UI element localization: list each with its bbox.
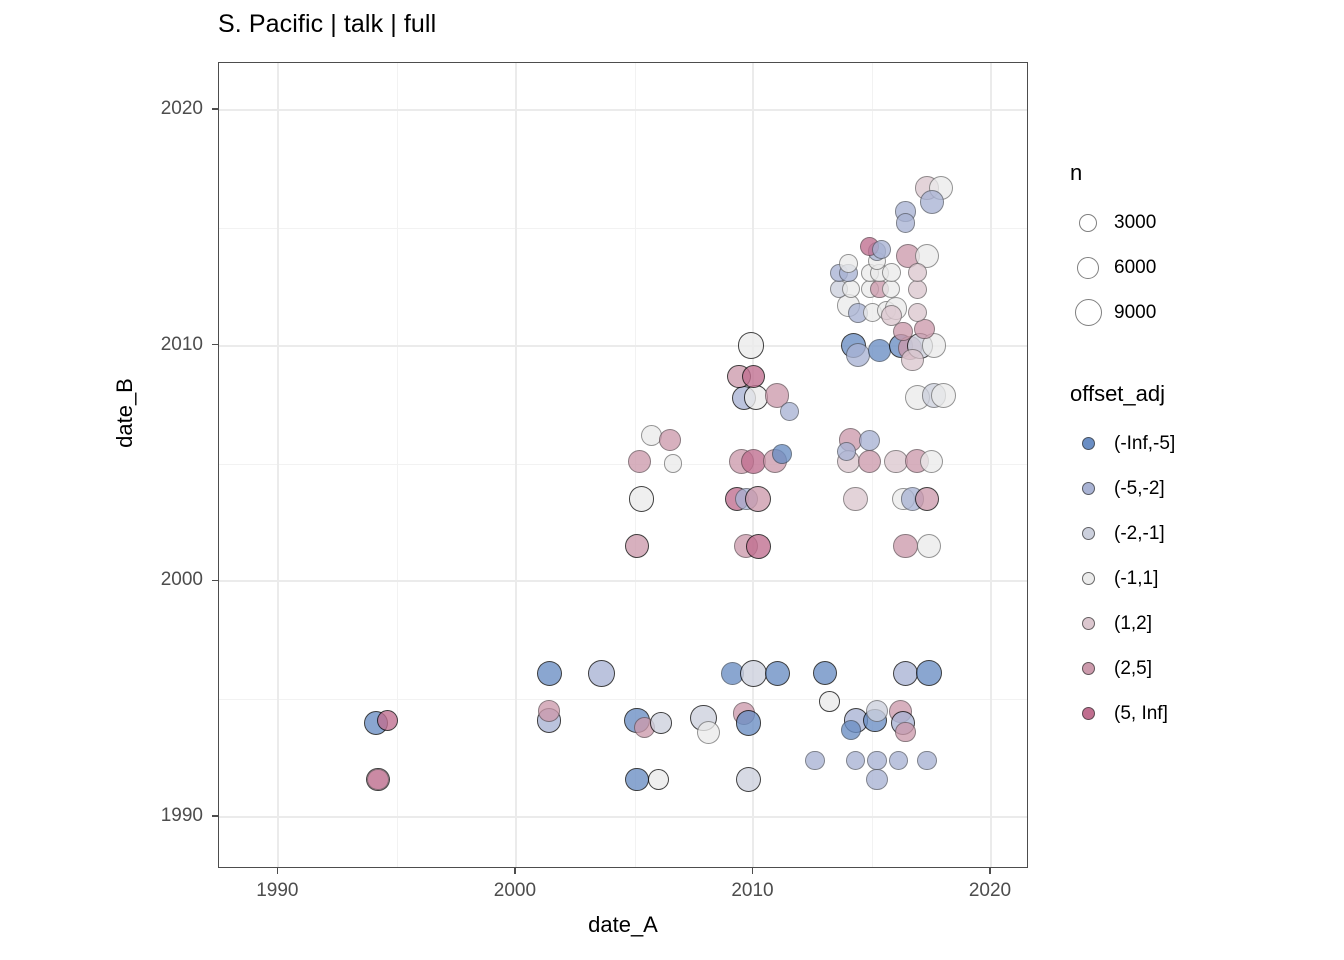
dot-icon (1082, 482, 1095, 495)
data-point (819, 691, 840, 712)
gridline-major-vertical (515, 63, 517, 867)
legend-color-item[interactable]: (2,5] (1062, 646, 1334, 691)
data-point (901, 349, 924, 372)
data-point (648, 769, 669, 790)
legend-color-item[interactable]: (-2,-1] (1062, 511, 1334, 556)
data-point (931, 383, 956, 408)
legend-color-key-icon (1062, 662, 1114, 675)
data-point (625, 534, 649, 558)
data-point (843, 487, 867, 511)
y-tick-mark (212, 108, 218, 109)
legend-color-item[interactable]: (1,2] (1062, 601, 1334, 646)
legend-size-item[interactable]: 3000 (1062, 200, 1334, 245)
data-point (813, 661, 837, 685)
dot-icon (1082, 707, 1095, 720)
legend-color-label: (-2,-1] (1114, 523, 1165, 545)
y-tick-mark (212, 344, 218, 345)
data-point (736, 767, 761, 792)
plot-panel (218, 62, 1028, 868)
legend-color-key-icon (1062, 617, 1114, 630)
legend-color-item[interactable]: (5, Inf] (1062, 691, 1334, 736)
data-point (893, 534, 917, 558)
legend-size-label: 9000 (1114, 302, 1156, 324)
x-tick-label: 2010 (702, 880, 802, 902)
data-point (842, 280, 860, 298)
legend-size-n: n 300060009000 (1062, 160, 1334, 335)
data-point (859, 430, 880, 451)
y-tick-mark (212, 815, 218, 816)
gridline-minor-vertical (397, 63, 398, 867)
y-tick-mark (212, 580, 218, 581)
x-axis-label: date_A (218, 912, 1028, 938)
legend-color-label: (2,5] (1114, 658, 1152, 680)
dot-icon (1082, 572, 1095, 585)
data-point (882, 263, 901, 282)
data-point (742, 365, 766, 389)
data-point (837, 442, 856, 461)
data-point (908, 280, 927, 299)
data-point (367, 769, 388, 790)
gridline-major-vertical (990, 63, 992, 867)
legend-size-item[interactable]: 9000 (1062, 290, 1334, 335)
legend-size-key-icon (1062, 214, 1114, 232)
y-tick-label: 2010 (108, 334, 203, 356)
data-point (908, 263, 927, 282)
x-tick-label: 2000 (465, 880, 565, 902)
legend-size-key-icon (1062, 299, 1114, 326)
legend-color-label: (-5,-2] (1114, 478, 1165, 500)
circle-icon (1077, 257, 1099, 279)
data-point (805, 751, 825, 771)
data-point (895, 722, 915, 742)
legend-color-item[interactable]: (-Inf,-5] (1062, 421, 1334, 466)
data-point (628, 450, 651, 473)
data-point (893, 322, 912, 341)
data-point (884, 450, 908, 474)
data-point (872, 240, 891, 259)
chart-title: S. Pacific | talk | full (218, 10, 436, 39)
y-axis-label: date_B (112, 283, 138, 543)
data-point (537, 661, 562, 686)
data-point (780, 402, 799, 421)
data-point (650, 712, 671, 733)
legend-size-label: 6000 (1114, 257, 1156, 279)
dot-icon (1082, 437, 1095, 450)
data-point (697, 721, 720, 744)
legend-size-item[interactable]: 6000 (1062, 245, 1334, 290)
data-point (868, 339, 891, 362)
gridline-major-vertical (277, 63, 279, 867)
data-point (736, 710, 761, 735)
x-tick-label: 1990 (227, 880, 327, 902)
circle-icon (1079, 214, 1097, 232)
legend-color-title: offset_adj (1070, 381, 1334, 407)
data-point (377, 710, 398, 731)
x-tick-mark (989, 868, 990, 874)
data-point (745, 486, 771, 512)
data-point (889, 751, 908, 770)
data-point (538, 700, 559, 721)
gridline-major-horizontal (219, 109, 1027, 111)
data-point (738, 332, 765, 359)
data-point (629, 486, 654, 511)
data-point (664, 454, 682, 472)
x-tick-mark (752, 868, 753, 874)
gridline-minor-horizontal (219, 699, 1027, 700)
gridline-major-horizontal (219, 816, 1027, 818)
legend-size-title: n (1070, 160, 1334, 186)
data-point (765, 661, 790, 686)
legend-color-key-icon (1062, 527, 1114, 540)
dot-icon (1082, 617, 1095, 630)
data-point (915, 487, 939, 511)
data-point (588, 660, 615, 687)
chart-canvas: S. Pacific | talk | full date_A date_B n… (0, 0, 1344, 960)
data-point (917, 534, 941, 558)
legend-color-label: (-1,1] (1114, 568, 1158, 590)
dot-icon (1082, 662, 1095, 675)
data-point (625, 768, 649, 792)
data-point (896, 213, 916, 233)
legend-size-label: 3000 (1114, 212, 1156, 234)
x-tick-mark (277, 868, 278, 874)
data-point (858, 450, 881, 473)
circle-icon (1075, 299, 1102, 326)
x-tick-label: 2020 (940, 880, 1040, 902)
data-point (740, 660, 767, 687)
data-point (882, 280, 900, 298)
legend-color-item[interactable]: (-1,1] (1062, 556, 1334, 601)
data-point (659, 429, 681, 451)
data-point (839, 254, 858, 273)
x-tick-mark (514, 868, 515, 874)
data-point (867, 751, 886, 770)
data-point (841, 720, 861, 740)
legend-size-key-icon (1062, 257, 1114, 279)
data-point (916, 660, 942, 686)
gridline-major-horizontal (219, 580, 1027, 582)
dot-icon (1082, 527, 1095, 540)
data-point (920, 190, 944, 214)
data-point (866, 700, 888, 722)
legend-area: n 300060009000 offset_adj (-Inf,-5](-5,-… (1062, 160, 1334, 736)
y-tick-label: 1990 (108, 805, 203, 827)
legend-color-offset-adj: offset_adj (-Inf,-5](-5,-2](-2,-1](-1,1]… (1062, 381, 1334, 736)
data-point (917, 751, 936, 770)
legend-color-label: (-Inf,-5] (1114, 433, 1175, 455)
y-tick-label: 2000 (108, 569, 203, 591)
data-point (893, 661, 919, 687)
legend-color-label: (5, Inf] (1114, 703, 1168, 725)
data-point (846, 343, 870, 367)
legend-color-key-icon (1062, 437, 1114, 450)
data-point (846, 751, 865, 770)
legend-color-key-icon (1062, 707, 1114, 720)
data-point (746, 534, 771, 559)
data-point (772, 444, 792, 464)
legend-color-label: (1,2] (1114, 613, 1152, 635)
legend-color-key-icon (1062, 572, 1114, 585)
y-tick-label: 2020 (108, 98, 203, 120)
data-point (866, 769, 887, 790)
data-point (920, 450, 944, 474)
legend-color-key-icon (1062, 482, 1114, 495)
legend-color-item[interactable]: (-5,-2] (1062, 466, 1334, 511)
data-point (881, 305, 902, 326)
data-point (914, 319, 934, 339)
